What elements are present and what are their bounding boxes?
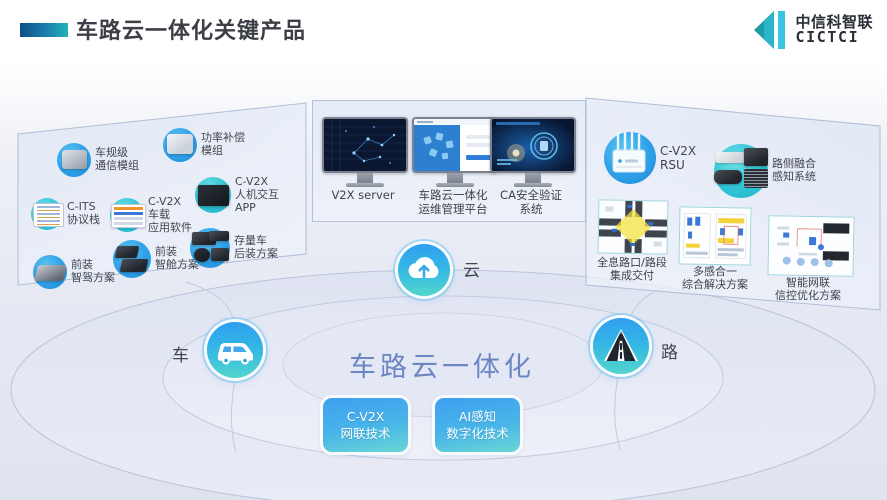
power-compensation-module-icon [163,128,197,162]
hub-node-vehicle[interactable] [207,322,263,378]
hub-label-road: 路 [661,338,678,363]
page-title: 车路云一体化关键产品 [76,13,306,45]
solution-card-multi-sensor-fusion[interactable] [678,206,751,265]
product-label: 车规级 通信模组 [95,147,139,173]
hub-node-road[interactable] [593,318,649,374]
monitor-ca-security[interactable] [490,117,576,187]
product-pre-install-cockpit-solution[interactable]: 前装 智舱方案 [113,240,199,278]
monitor-label-v2x-server: V2X server [313,188,413,202]
hub-node-cloud[interactable] [398,244,450,296]
hub-label-cloud: 云 [463,256,480,281]
chip-ai-sensing[interactable]: AI感知 数字化技术 [435,398,520,452]
product-onboard-app-software[interactable]: C-V2X 车载 应用软件 [110,196,192,235]
product-communication-module[interactable]: 车规级 通信模组 [57,143,139,177]
signal-control-optimization-thumb [769,216,854,275]
chip-c-v2x-network[interactable]: C-V2X 网联技术 [323,398,408,452]
solution-card-holographic-intersection[interactable] [598,199,669,254]
road-icon [593,318,649,374]
solution-card-signal-control-optimization[interactable] [767,215,854,276]
product-label: 路侧融合 感知系统 [772,158,816,184]
product-label: C-V2X 人机交互 APP [235,176,279,215]
product-aftermarket-solution[interactable]: 存量车 后装方案 [190,228,278,268]
product-label: C-V2X RSU [660,144,696,172]
product-label: 存量车 后装方案 [234,235,278,261]
product-roadside-fusion-sensing[interactable]: 路侧融合 感知系统 [714,144,816,198]
ca-security-screen [492,119,574,171]
monitor-ops-platform[interactable] [412,117,498,187]
monitor-label-ca-security: CA安全验证 系统 [481,188,581,217]
roadside-fusion-sensing-icon [714,144,768,198]
brand-logo: 中信科智联 CICTCI [752,8,873,52]
aftermarket-solution-icon [190,228,230,268]
left-chevron-logo-mark [752,10,786,50]
hub-label-vehicle: 车 [172,341,189,366]
chip-line2: 数字化技术 [446,426,509,442]
protocol-stack-icon [31,198,63,230]
rsu-antenna-icon [604,132,656,184]
product-label: 前装 智驾方案 [71,259,115,285]
product-c-v2x-rsu[interactable]: C-V2X RSU [604,132,696,184]
product-label: C-ITS 协议栈 [67,201,100,227]
product-pre-install-ad-solution[interactable]: 前装 智驾方案 [33,255,115,289]
dark-network-topology-screen [324,119,406,171]
holographic-intersection-thumb [599,200,668,253]
communication-module-icon [57,143,91,177]
monitor-v2x-server[interactable] [322,117,408,187]
product-label: C-V2X 车载 应用软件 [148,196,192,235]
title-accent-bar [20,23,68,37]
chip-line2: 网联技术 [340,426,390,442]
hmi-app-icon [195,177,231,213]
logo-text-en: CICTCI [795,30,873,45]
pre-install-ad-solution-icon [33,255,67,289]
product-c-its-stack[interactable]: C-ITS 协议栈 [31,198,100,230]
pre-install-cockpit-solution-icon [113,240,151,278]
slide-root: 车规级 通信模组 功率补偿 模组 C-V2X 人机交互 APP [0,0,887,500]
product-hmi-app[interactable]: C-V2X 人机交互 APP [195,176,279,215]
multi-sensor-fusion-thumb [680,207,751,264]
cloud-upload-icon [398,244,450,296]
product-label: 功率补偿 模组 [201,132,245,158]
chip-line1: AI感知 [459,409,496,425]
chip-line1: C-V2X [347,409,385,425]
onboard-app-software-icon [110,198,144,232]
car-icon [207,322,263,378]
product-power-compensation-module[interactable]: 功率补偿 模组 [163,128,245,162]
hub-title: 车路云一体化 [322,345,562,384]
solution-card-label-signal-control-optimization: 智能网联 信控优化方案 [752,276,864,302]
ops-management-platform-screen [414,119,496,171]
header-bar: 车路云一体化关键产品 中信科智联 CICTCI [0,0,887,62]
